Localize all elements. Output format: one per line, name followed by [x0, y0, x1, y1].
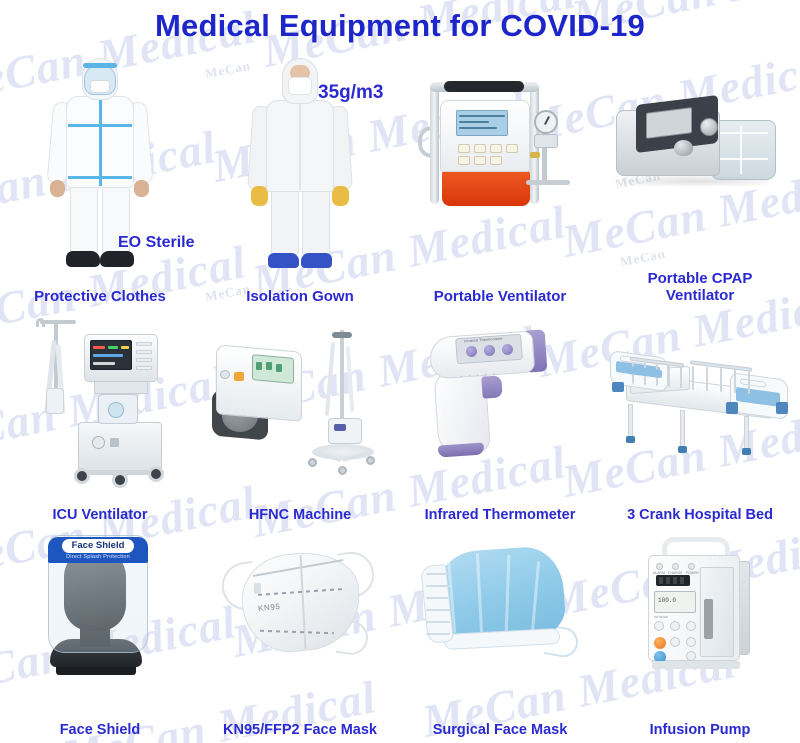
product-card-portable-ventilator[interactable]: Portable Ventilator: [400, 52, 600, 312]
product-card-3-crank-hospital-bed[interactable]: 3 Crank Hospital Bed: [600, 312, 800, 527]
pump-lcd-value: 100.0: [658, 597, 676, 604]
label-line-1: Portable CPAP: [600, 270, 800, 287]
product-image-infrared-thermometer: Infrared Thermometer · · · · ·: [400, 312, 600, 493]
product-card-hfnc-machine[interactable]: HFNC Machine: [200, 312, 400, 527]
product-label-face-shield: Face Shield: [0, 723, 200, 738]
overlay-eo-sterile: EO Sterile: [118, 234, 194, 252]
product-image-infusion-pump: ALARM CHARGE POWER 100.0 Infusion: [600, 527, 800, 708]
product-label-kn95-ffp2-face-mask: KN95/FFP2 Face Mask: [200, 723, 400, 738]
product-label-hfnc-machine: HFNC Machine: [200, 508, 400, 523]
product-image-portable-cpap-ventilator: [600, 52, 800, 278]
product-image-3-crank-hospital-bed: [600, 312, 800, 493]
product-card-protective-clothes[interactable]: EO Sterile Protective Clothes: [0, 52, 200, 312]
product-label-portable-cpap-ventilator: Portable CPAP Ventilator: [600, 270, 800, 304]
product-card-infusion-pump[interactable]: ALARM CHARGE POWER 100.0 Infusion: [600, 527, 800, 742]
pump-brand-text: Infusion: [654, 615, 668, 619]
product-label-surgical-face-mask: Surgical Face Mask: [400, 723, 600, 738]
page-title: Medical Equipment for COVID-19: [0, 8, 800, 44]
product-image-hfnc-machine: [200, 312, 400, 493]
product-label-icu-ventilator: ICU Ventilator: [0, 508, 200, 523]
product-card-icu-ventilator[interactable]: ICU Ventilator: [0, 312, 200, 527]
product-image-kn95-ffp2-face-mask: KN95: [200, 527, 400, 708]
product-image-surgical-face-mask: [400, 527, 600, 708]
product-label-protective-clothes: Protective Clothes: [0, 289, 200, 304]
product-card-portable-cpap-ventilator[interactable]: Portable CPAP Ventilator: [600, 52, 800, 312]
product-card-infrared-thermometer[interactable]: Infrared Thermometer · · · · · Infrared …: [400, 312, 600, 527]
product-card-isolation-gown[interactable]: 35g/m3 Isolation Gown: [200, 52, 400, 312]
product-label-portable-ventilator: Portable Ventilator: [400, 289, 600, 304]
product-card-kn95-ffp2-face-mask[interactable]: KN95 KN95/FFP2 Face Mask: [200, 527, 400, 742]
overlay-gsm: 35g/m3: [318, 82, 383, 104]
product-grid: EO Sterile Protective Clothes 35g/m3 Iso…: [0, 52, 800, 742]
face-shield-band-subtitle: Direct Splash Protection: [58, 554, 138, 560]
product-image-face-shield: Face Shield Direct Splash Protection: [0, 527, 200, 708]
product-label-3-crank-hospital-bed: 3 Crank Hospital Bed: [600, 508, 800, 523]
face-shield-band-title: Face Shield: [62, 539, 134, 553]
label-line-2: Ventilator: [600, 287, 800, 304]
product-card-surgical-face-mask[interactable]: Surgical Face Mask: [400, 527, 600, 742]
product-label-infusion-pump: Infusion Pump: [600, 723, 800, 738]
product-label-infrared-thermometer: Infrared Thermometer: [400, 508, 600, 523]
product-card-face-shield[interactable]: Face Shield Direct Splash Protection Fac…: [0, 527, 200, 742]
product-label-isolation-gown: Isolation Gown: [200, 289, 400, 304]
product-image-portable-ventilator: [400, 52, 600, 278]
product-image-icu-ventilator: [0, 312, 200, 493]
